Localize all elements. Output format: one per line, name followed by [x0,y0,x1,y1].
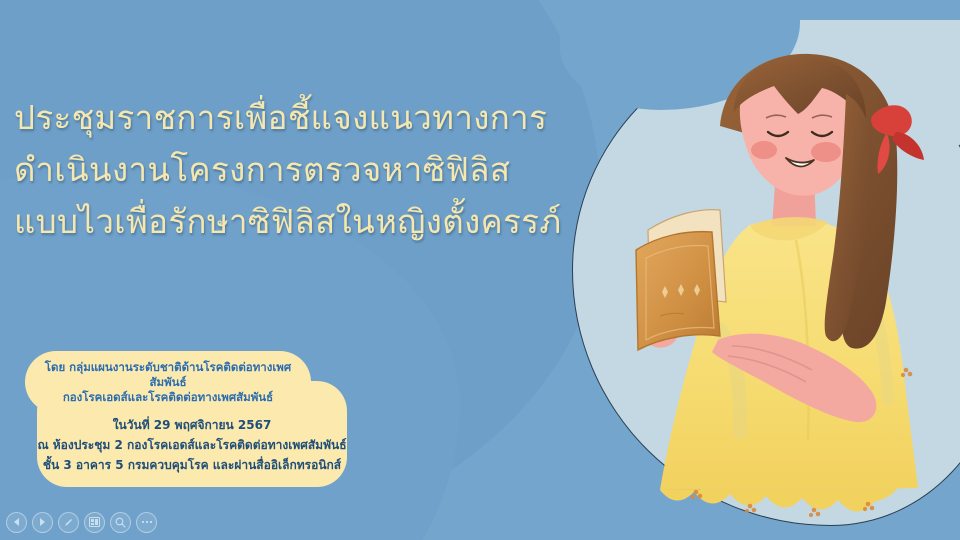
zoom-in-button[interactable] [110,512,131,533]
presentation-slide: ประชุมราชการเพื่อชี้แจงแนวทางการ ดำเนินง… [0,0,960,540]
slide-title: ประชุมราชการเพื่อชี้แจงแนวทางการ ดำเนินง… [14,92,584,248]
book-cover [636,232,720,350]
organizer-line-2: กองโรคเอดส์และโรคติดต่อทางเพศสัมพันธ์ [35,390,301,405]
next-slide-button[interactable] [32,512,53,533]
grid-slides-icon [89,517,100,527]
previous-slide-button[interactable] [6,512,27,533]
pregnant-woman-reading-illustration [600,40,960,540]
organizer-badge: โดย กลุ่มแผนงานระดับชาติด้านโรคติดต่อทาง… [25,351,311,413]
title-line-2: ดำเนินงานโครงการตรวจหาซิฟิลิส [14,144,584,196]
pen-icon [63,517,74,528]
pen-tools-button[interactable] [58,512,79,533]
all-slides-button[interactable] [84,512,105,533]
next-arrow-icon [39,518,46,526]
blush-right [811,142,841,162]
previous-arrow-icon [13,518,20,526]
organizer-line-1: โดย กลุ่มแผนงานระดับชาติด้านโรคติดต่อทาง… [35,360,301,390]
event-floor: ชั้น 3 อาคาร 5 กรมควบคุมโรค และผ่านสื่ออ… [37,455,346,475]
slideshow-toolbar[interactable] [6,510,157,534]
title-line-1: ประชุมราชการเพื่อชี้แจงแนวทางการ [14,92,584,144]
blush-left [751,141,777,159]
ellipsis-icon [141,520,153,524]
open-book [636,210,726,350]
title-line-3: แบบไวเพื่อรักษาซิฟิลิสในหญิงตั้งครรภ์ [14,196,584,248]
magnifier-icon [115,517,126,528]
dress-hem [660,488,918,512]
event-date: ในวันที่ 29 พฤศจิกายน 2567 [37,415,346,435]
event-venue: ณ ห้องประชุม 2 กองโรคเอดส์และโรคติดต่อทา… [37,435,346,455]
more-options-button[interactable] [136,512,157,533]
